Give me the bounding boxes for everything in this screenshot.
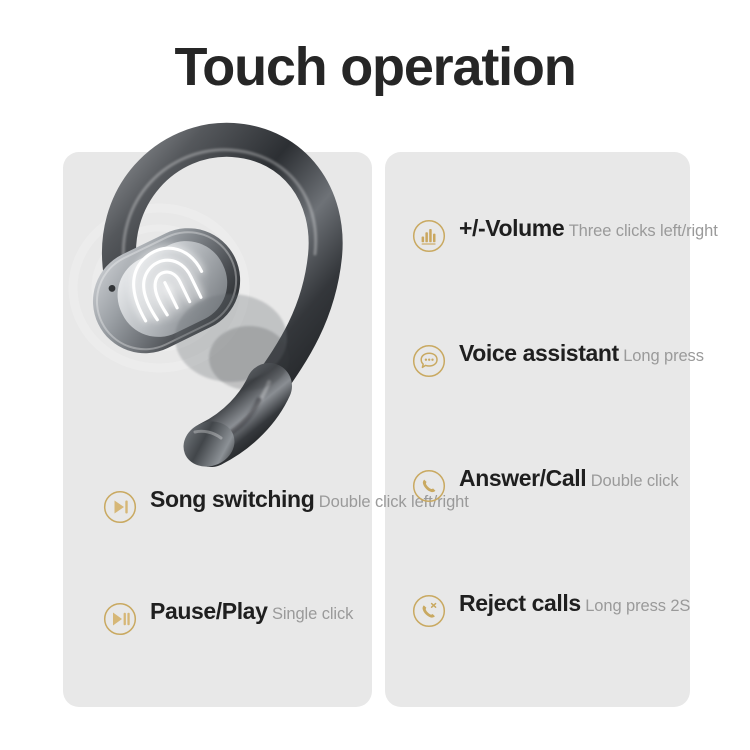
feature-title: Voice assistant: [459, 340, 619, 366]
feature-text-block: +/-Volume Three clicks left/right: [459, 216, 718, 242]
feature-subtitle: Single click: [272, 605, 353, 623]
feature-subtitle: Double click: [591, 472, 679, 490]
feature-title: Answer/Call: [459, 465, 586, 491]
feature-subtitle: Three clicks left/right: [569, 222, 718, 240]
feature-text-block: Voice assistant Long press: [459, 341, 704, 367]
feature-text-block: Pause/Play Single click: [150, 599, 353, 625]
feature-title: Pause/Play: [150, 598, 267, 624]
volume-bars-icon: [412, 219, 446, 253]
speech-bubble-icon: [412, 344, 446, 378]
feature-answer-call[interactable]: Answer/Call Double click: [412, 466, 678, 503]
next-track-icon: [103, 490, 137, 524]
feature-subtitle: Long press 2S: [585, 597, 690, 615]
feature-title: Song switching: [150, 486, 314, 512]
page-title: Touch operation: [0, 38, 750, 97]
feature-voice-assistant[interactable]: Voice assistant Long press: [412, 341, 704, 378]
feature-reject-calls[interactable]: Reject calls Long press 2S: [412, 591, 690, 628]
feature-pause-play[interactable]: Pause/Play Single click: [103, 599, 353, 636]
phone-handset-icon: [412, 469, 446, 503]
feature-title: Reject calls: [459, 590, 581, 616]
feature-volume[interactable]: +/-Volume Three clicks left/right: [412, 216, 718, 253]
feature-text-block: Answer/Call Double click: [459, 466, 678, 492]
feature-subtitle: Long press: [623, 347, 704, 365]
feature-text-block: Reject calls Long press 2S: [459, 591, 690, 617]
pause-play-icon: [103, 602, 137, 636]
feature-title: +/-Volume: [459, 215, 564, 241]
phone-handset-reject-icon: [412, 594, 446, 628]
